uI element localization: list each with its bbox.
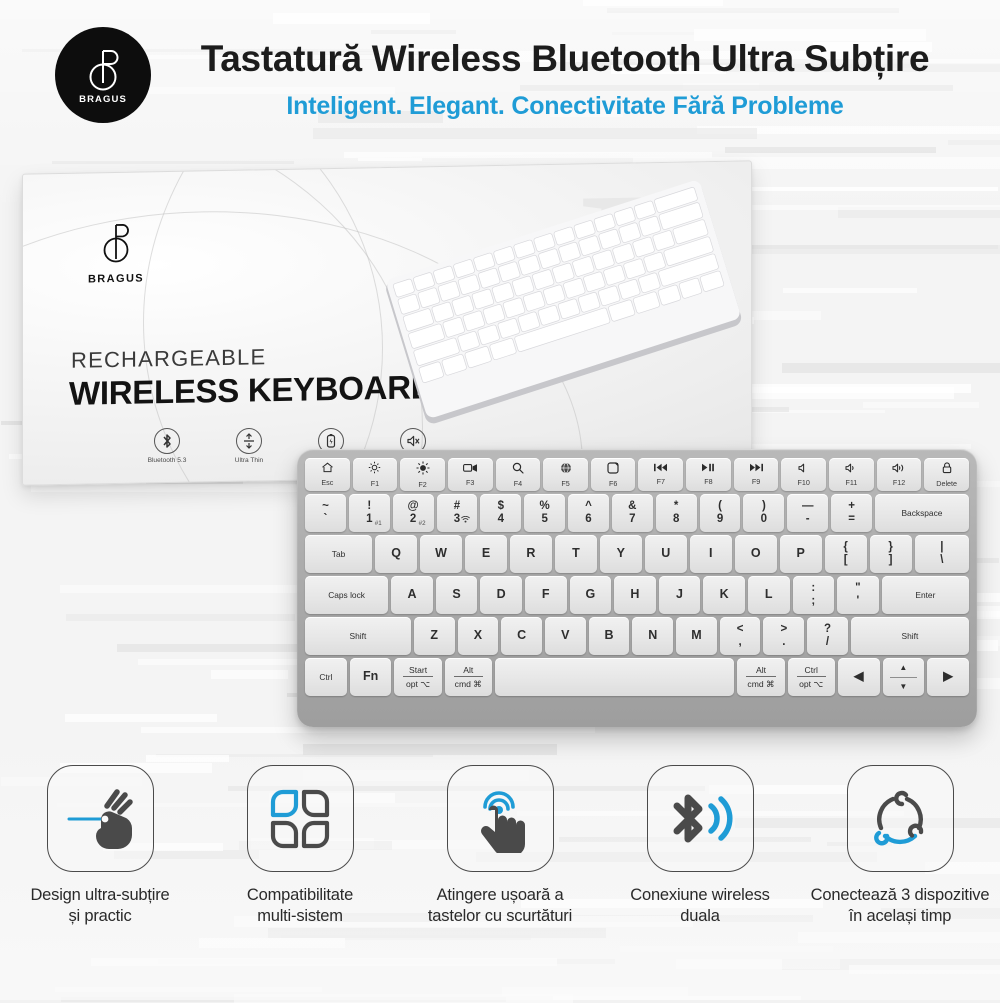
feature-caption: Conectează 3 dispozitive în același timp — [811, 885, 990, 927]
box-headline-small: RECHARGEABLE — [71, 344, 266, 374]
keyboard-number-row: ~`!1#1@2#2#3$4%5^6&7*8(9)0—-+=Backspace — [305, 494, 969, 532]
key-label-top: & — [628, 500, 636, 513]
key-y[interactable]: Y — [600, 535, 642, 573]
key-label: Enter — [915, 591, 935, 600]
key-label-top: : — [811, 582, 815, 595]
box-brand-text: BRAGUS — [81, 272, 151, 285]
multi-system-grid-icon — [267, 786, 333, 852]
page-subtitle: Inteligent. Elegant. Conectivitate Fără … — [150, 92, 980, 121]
key-label: Esc — [321, 478, 333, 487]
key-label: F4 — [514, 479, 522, 488]
keyboard-home-row: Caps lockASDFGHJKL:;"'Enter — [305, 576, 969, 614]
feature-item: Conectează 3 dispozitive în același timp — [800, 765, 1000, 965]
feature-item: Atingere ușoară a tastelor cu scurtături — [400, 765, 600, 965]
key-1[interactable]: !1#1 — [349, 494, 390, 532]
key-label-top: * — [674, 500, 678, 513]
key-q[interactable]: Q — [375, 535, 417, 573]
key-3[interactable]: #3 — [437, 494, 478, 532]
key-backspace[interactable]: Backspace — [875, 494, 969, 532]
key-label-bottom: 4 — [498, 513, 504, 526]
play-pause-icon — [701, 463, 715, 475]
key-u[interactable]: U — [645, 535, 687, 573]
key-f5[interactable]: F5 — [543, 458, 588, 491]
key-label: Fn — [363, 670, 378, 683]
key-label-top: } — [888, 541, 892, 554]
key-label: F — [542, 588, 550, 601]
feature-strip: Design ultra-subțire și practic Compatib… — [0, 765, 1000, 965]
keyboard[interactable]: EscF1F2F3F4F5F6F7F8F9F10F11F12Delete ~`!… — [297, 449, 977, 727]
key-label-top: { — [843, 541, 847, 554]
keyboard-bottom-row: CtrlFnStartopt ⌥Altcmd ⌘Altcmd ⌘Ctrlopt … — [305, 658, 969, 696]
key-z[interactable]: Z — [414, 617, 455, 655]
header: BRAGUS Tastatură Wireless Bluetooth Ultr… — [0, 0, 1000, 148]
spacebar[interactable] — [495, 658, 735, 696]
key-label: Y — [617, 547, 625, 560]
feature-icon-tile — [447, 765, 554, 872]
key-label-bottom: 8 — [673, 513, 679, 526]
key-p[interactable]: P — [780, 535, 822, 573]
key-label-top: Ctrl — [805, 665, 818, 675]
key-f11[interactable]: F11 — [829, 458, 874, 491]
key-'[interactable]: "' — [837, 576, 879, 614]
key-label: J — [676, 588, 683, 601]
box-badge-label: Ultra Thin — [222, 457, 276, 464]
pinch-gesture-hand-icon — [63, 786, 137, 852]
key-label: S — [452, 588, 460, 601]
key-label-top: ? — [824, 623, 831, 636]
feature-item: Design ultra-subțire și practic — [0, 765, 200, 965]
key-label-bottom: ` — [324, 513, 328, 526]
key-2[interactable]: @2#2 — [393, 494, 434, 532]
key-label: M — [691, 629, 701, 642]
key-h[interactable]: H — [614, 576, 656, 614]
mission-control-icon — [463, 463, 478, 476]
key-label-bottom: 1 — [366, 513, 372, 526]
key-label-bottom: = — [848, 513, 855, 526]
key-=[interactable]: += — [831, 494, 872, 532]
bluetooth-wireless-icon — [663, 786, 737, 852]
key-label: A — [407, 588, 416, 601]
brightness-down-icon — [368, 461, 381, 477]
previous-track-icon — [653, 463, 668, 475]
feature-item: Conexiune wireless duala — [600, 765, 800, 965]
key-b[interactable]: B — [589, 617, 630, 655]
key-o[interactable]: O — [735, 535, 777, 573]
key-k[interactable]: K — [703, 576, 745, 614]
key-f7[interactable]: F7 — [638, 458, 683, 491]
key-c[interactable]: C — [501, 617, 542, 655]
key-label-bottom: \ — [940, 554, 943, 567]
key-label: V — [561, 629, 569, 642]
key-9[interactable]: (9 — [700, 494, 741, 532]
key-i[interactable]: I — [690, 535, 732, 573]
arrow-up-down-key[interactable]: ▲▼ — [883, 658, 925, 696]
key-f2[interactable]: F2 — [400, 458, 445, 491]
keyboard-shift-row: ShiftZXCVBNM<,>.?/Shift — [305, 617, 969, 655]
key-m[interactable]: M — [676, 617, 717, 655]
key-label: F2 — [418, 480, 426, 489]
key-label: Ctrl — [319, 673, 332, 682]
volume-up-icon — [892, 463, 907, 476]
key-label: N — [648, 629, 657, 642]
key-device-marker: #2 — [419, 520, 426, 527]
key-esc[interactable]: Esc — [305, 458, 350, 491]
key-label: Delete — [936, 479, 957, 488]
key-label: X — [474, 629, 482, 642]
key-label: I — [709, 547, 712, 560]
box-badge-ultra-thin: Ultra Thin — [222, 428, 276, 464]
mute-icon — [798, 463, 809, 476]
key-\[interactable]: |\ — [915, 535, 970, 573]
key-label-bottom: 0 — [761, 513, 767, 526]
key-label: F7 — [657, 477, 665, 486]
key-label-bottom: 3 — [454, 513, 460, 526]
key--[interactable]: —- — [787, 494, 828, 532]
key-label: F11 — [845, 478, 857, 487]
key-label-top: | — [940, 541, 943, 554]
key-r[interactable]: R — [510, 535, 552, 573]
feature-caption: Conexiune wireless duala — [630, 885, 769, 927]
key-e[interactable]: E — [465, 535, 507, 573]
key-.[interactable]: >. — [763, 617, 804, 655]
key-label: F1 — [371, 479, 379, 488]
ultra-thin-icon — [236, 428, 262, 454]
box-badge-bluetooth: Bluetooth 5.3 — [140, 428, 194, 464]
key-j[interactable]: J — [659, 576, 701, 614]
wifi-pairing-icon — [461, 510, 470, 528]
key-start[interactable]: Startopt ⌥ — [394, 658, 441, 696]
key-label-bottom: cmd ⌘ — [747, 679, 774, 690]
key-label-bottom: 9 — [717, 513, 723, 526]
key-v[interactable]: V — [545, 617, 586, 655]
key-label: B — [604, 629, 613, 642]
dictation-globe-icon — [560, 462, 572, 477]
key-device-marker: #1 — [375, 520, 382, 527]
key-x[interactable]: X — [458, 617, 499, 655]
next-track-icon — [749, 463, 764, 475]
touch-tap-hand-icon — [469, 785, 531, 853]
key-label-bottom: opt ⌥ — [799, 679, 823, 690]
key-label-bottom: 5 — [541, 513, 547, 526]
key-label: K — [720, 588, 729, 601]
feature-icon-tile — [847, 765, 954, 872]
key-g[interactable]: G — [570, 576, 612, 614]
key-label: F9 — [752, 477, 760, 486]
key-f10[interactable]: F10 — [781, 458, 826, 491]
key-label: F3 — [466, 478, 474, 487]
key-label-bottom: cmd ⌘ — [455, 679, 482, 690]
brightness-up-icon — [416, 461, 430, 478]
key-label-top: ! — [367, 500, 371, 513]
key-d[interactable]: D — [480, 576, 522, 614]
key-f3[interactable]: F3 — [448, 458, 493, 491]
arrow-left-key[interactable]: ◀ — [838, 658, 880, 696]
key-label-top: # — [454, 500, 460, 513]
bluetooth-icon — [154, 428, 180, 454]
lock-icon — [942, 462, 952, 477]
key-s[interactable]: S — [436, 576, 478, 614]
key-tab[interactable]: Tab — [305, 535, 372, 573]
key-label: Q — [391, 547, 401, 560]
key-label: G — [585, 588, 595, 601]
do-not-disturb-icon — [607, 462, 619, 477]
feature-caption: Compatibilitate multi-sistem — [247, 885, 353, 927]
key-label: R — [526, 547, 535, 560]
key-,[interactable]: <, — [720, 617, 761, 655]
key-w[interactable]: W — [420, 535, 462, 573]
key-label-top: — — [802, 500, 814, 513]
key-a[interactable]: A — [391, 576, 433, 614]
key-label: F12 — [893, 478, 905, 487]
bragus-monogram-icon — [83, 45, 123, 93]
key-label-bottom: opt ⌥ — [406, 679, 430, 690]
key-f1[interactable]: F1 — [353, 458, 398, 491]
key-label: F8 — [704, 477, 712, 486]
key-n[interactable]: N — [632, 617, 673, 655]
key-0[interactable]: )0 — [743, 494, 784, 532]
feature-item: Compatibilitate multi-sistem — [200, 765, 400, 965]
key-label: Backspace — [901, 509, 942, 518]
volume-down-icon — [845, 463, 858, 476]
key-alt[interactable]: Altcmd ⌘ — [737, 658, 784, 696]
box-brand-logo: BRAGUS — [81, 220, 151, 285]
arrow-down-icon[interactable]: ▼ — [883, 678, 925, 697]
key-label-top: $ — [498, 500, 504, 513]
key-f4[interactable]: F4 — [496, 458, 541, 491]
keyboard-tab-row: TabQWERTYUIOP{[}]|\ — [305, 535, 969, 573]
key-enter[interactable]: Enter — [882, 576, 969, 614]
key-label: Z — [430, 629, 438, 642]
key-l[interactable]: L — [748, 576, 790, 614]
key-f12[interactable]: F12 — [877, 458, 922, 491]
key-f[interactable]: F — [525, 576, 567, 614]
key-label-top: < — [737, 623, 744, 636]
feature-icon-tile — [47, 765, 154, 872]
key-6[interactable]: ^6 — [568, 494, 609, 532]
key-label-bottom: ; — [811, 595, 815, 608]
key-7[interactable]: &7 — [612, 494, 653, 532]
feature-caption: Design ultra-subțire și practic — [30, 885, 169, 927]
key-divider — [797, 676, 826, 677]
key-label-bottom: / — [826, 636, 829, 649]
key-label: F6 — [609, 479, 617, 488]
key-label-bottom: ' — [857, 595, 860, 608]
key-shift[interactable]: Shift — [851, 617, 969, 655]
logo-brand-text: BRAGUS — [79, 94, 127, 105]
key-label-bottom: ] — [889, 554, 893, 567]
home-icon — [321, 462, 334, 476]
key-shift[interactable]: Shift — [305, 617, 411, 655]
key-label-top: > — [780, 623, 787, 636]
key-f6[interactable]: F6 — [591, 458, 636, 491]
key-label: D — [497, 588, 506, 601]
key-t[interactable]: T — [555, 535, 597, 573]
key-label-top: Start — [409, 665, 427, 675]
key-5[interactable]: %5 — [524, 494, 565, 532]
key-delete[interactable]: Delete — [924, 458, 969, 491]
key-label: E — [482, 547, 490, 560]
key-label: Caps lock — [328, 591, 365, 600]
key-label: Shift — [350, 632, 367, 641]
key-label-top: ~ — [322, 500, 329, 513]
brand-logo-badge: BRAGUS — [55, 27, 151, 123]
search-icon — [512, 462, 524, 477]
key-fn[interactable]: Fn — [350, 658, 392, 696]
key-/[interactable]: ?/ — [807, 617, 848, 655]
key-label: H — [630, 588, 639, 601]
key-label: F5 — [561, 479, 569, 488]
key-label-top: ( — [718, 500, 722, 513]
key-caps-lock[interactable]: Caps lock — [305, 576, 388, 614]
box-keyboard-photo — [367, 173, 752, 435]
key-label: ▶ — [943, 670, 953, 683]
three-devices-cycle-icon — [865, 786, 935, 852]
key-label: F10 — [798, 478, 810, 487]
key-label-bottom: , — [739, 636, 742, 649]
key-divider — [403, 676, 432, 677]
key-alt[interactable]: Altcmd ⌘ — [445, 658, 492, 696]
key-label: C — [517, 629, 526, 642]
key-label-bottom: 7 — [629, 513, 635, 526]
key-label-top: ^ — [585, 500, 592, 513]
key-label-top: % — [540, 500, 550, 513]
key-label-bottom: 2 — [410, 513, 416, 526]
key-divider — [454, 676, 483, 677]
key-label-bottom: [ — [844, 554, 848, 567]
arrow-up-icon[interactable]: ▲ — [883, 658, 925, 677]
key-label-top: Alt — [756, 665, 766, 675]
key-label: Shift — [902, 632, 919, 641]
arrow-right-key[interactable]: ▶ — [927, 658, 969, 696]
feature-caption: Atingere ușoară a tastelor cu scurtături — [428, 885, 572, 927]
key-f9[interactable]: F9 — [734, 458, 779, 491]
key-label: W — [435, 547, 447, 560]
key-ctrl[interactable]: Ctrl — [305, 658, 347, 696]
keyboard-function-row: EscF1F2F3F4F5F6F7F8F9F10F11F12Delete — [305, 458, 969, 491]
key-label: T — [572, 547, 580, 560]
key-8[interactable]: *8 — [656, 494, 697, 532]
key-[[interactable]: {[ — [825, 535, 867, 573]
bragus-monogram-icon — [98, 221, 134, 266]
key-label: Tab — [332, 550, 346, 559]
feature-icon-tile — [247, 765, 354, 872]
key-f8[interactable]: F8 — [686, 458, 731, 491]
page-title: Tastatură Wireless Bluetooth Ultra Subți… — [150, 38, 980, 80]
key-label-top: @ — [408, 500, 419, 513]
key-label-bottom: . — [782, 636, 785, 649]
key-ctrl[interactable]: Ctrlopt ⌥ — [788, 658, 835, 696]
key-][interactable]: }] — [870, 535, 912, 573]
key-label: U — [661, 547, 670, 560]
key-divider — [746, 676, 775, 677]
key-label-top: ) — [762, 500, 766, 513]
key-`[interactable]: ~` — [305, 494, 346, 532]
key-label: P — [796, 547, 804, 560]
key-;[interactable]: :; — [793, 576, 835, 614]
feature-icon-tile — [647, 765, 754, 872]
key-label: L — [765, 588, 773, 601]
key-label-top: " — [855, 582, 860, 595]
key-label-bottom: 6 — [585, 513, 591, 526]
key-label-top: Alt — [463, 665, 473, 675]
key-label: ◀ — [854, 670, 864, 683]
key-label-bottom: - — [806, 513, 810, 526]
key-4[interactable]: $4 — [480, 494, 521, 532]
key-label-top: + — [848, 500, 855, 513]
box-badge-label: Bluetooth 5.3 — [140, 457, 194, 464]
key-label: O — [751, 547, 761, 560]
